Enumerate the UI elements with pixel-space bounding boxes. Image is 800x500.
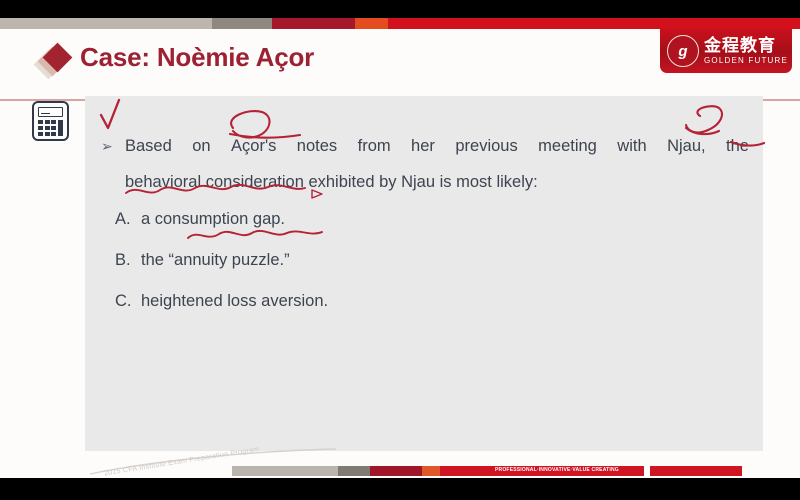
option-b-letter: B.: [115, 251, 141, 270]
logo-seal-icon: g: [667, 35, 699, 67]
question-word: Based: [125, 128, 172, 164]
option-c-letter: C.: [115, 292, 141, 311]
footer-seg-light-gray: [232, 466, 338, 476]
question-word: her: [411, 128, 435, 164]
option-a-letter: A.: [115, 210, 141, 229]
option-a-text: a consumption gap.: [141, 210, 285, 229]
logo-english-name: GOLDEN FUTURE: [704, 57, 788, 65]
ribbon-seg-red: [388, 18, 800, 29]
question-panel: ➢ BasedonAçor'snotesfromherpreviousmeeti…: [85, 96, 763, 451]
bullet-arrow-icon: ➢: [101, 128, 113, 164]
presentation-slide: Case: Noèmie Açor g 金程教育 GOLDEN FUTURE: [0, 18, 800, 478]
footer-seg-dark-red: [370, 466, 422, 476]
question-word: on: [192, 128, 210, 164]
question-line-2: behavioral consideration exhibited by Nj…: [125, 164, 749, 200]
question-word: previous: [455, 128, 517, 164]
calculator-icon: [32, 101, 69, 141]
question-word: with: [617, 128, 646, 164]
calculator-keys: [38, 120, 63, 136]
footer-color-bar: [232, 466, 742, 476]
header-ribbon: [0, 18, 800, 29]
footer-seg-red-end: [650, 466, 742, 476]
slide-viewer: Case: Noèmie Açor g 金程教育 GOLDEN FUTURE: [0, 0, 800, 500]
question-text: ➢ BasedonAçor'snotesfromherpreviousmeeti…: [101, 128, 749, 200]
option-b[interactable]: B. the “annuity puzzle.”: [115, 251, 290, 270]
option-c[interactable]: C. heightened loss aversion.: [115, 292, 328, 311]
footer-tagline: PROFESSIONAL·INNOVATIVE·VALUE CREATING: [495, 467, 619, 473]
question-word: from: [358, 128, 391, 164]
question-word: notes: [297, 128, 337, 164]
footer-seg-dark-gray: [338, 466, 370, 476]
question-word: meeting: [538, 128, 597, 164]
footer-seg-orange: [422, 466, 440, 476]
letterbox-top: [0, 0, 800, 18]
option-c-text: heightened loss aversion.: [141, 292, 328, 311]
calculator-display: [38, 107, 63, 117]
option-a[interactable]: A. a consumption gap.: [115, 210, 285, 229]
brand-logo: g 金程教育 GOLDEN FUTURE: [660, 29, 792, 73]
question-word: the: [726, 128, 749, 164]
ribbon-seg-dark-red: [272, 18, 355, 29]
question-word: Açor's: [231, 128, 276, 164]
diamond-icon: [38, 45, 72, 79]
question-line-1: BasedonAçor'snotesfromherpreviousmeeting…: [125, 128, 749, 164]
page-title: Case: Noèmie Açor: [80, 42, 314, 73]
question-word: Njau,: [667, 128, 706, 164]
ribbon-seg-dark-gray: [212, 18, 272, 29]
logo-chinese-name: 金程教育: [704, 37, 788, 54]
option-b-text: the “annuity puzzle.”: [141, 251, 290, 270]
ribbon-seg-orange: [355, 18, 388, 29]
ribbon-seg-light-gray: [0, 18, 212, 29]
letterbox-bottom: [0, 478, 800, 500]
